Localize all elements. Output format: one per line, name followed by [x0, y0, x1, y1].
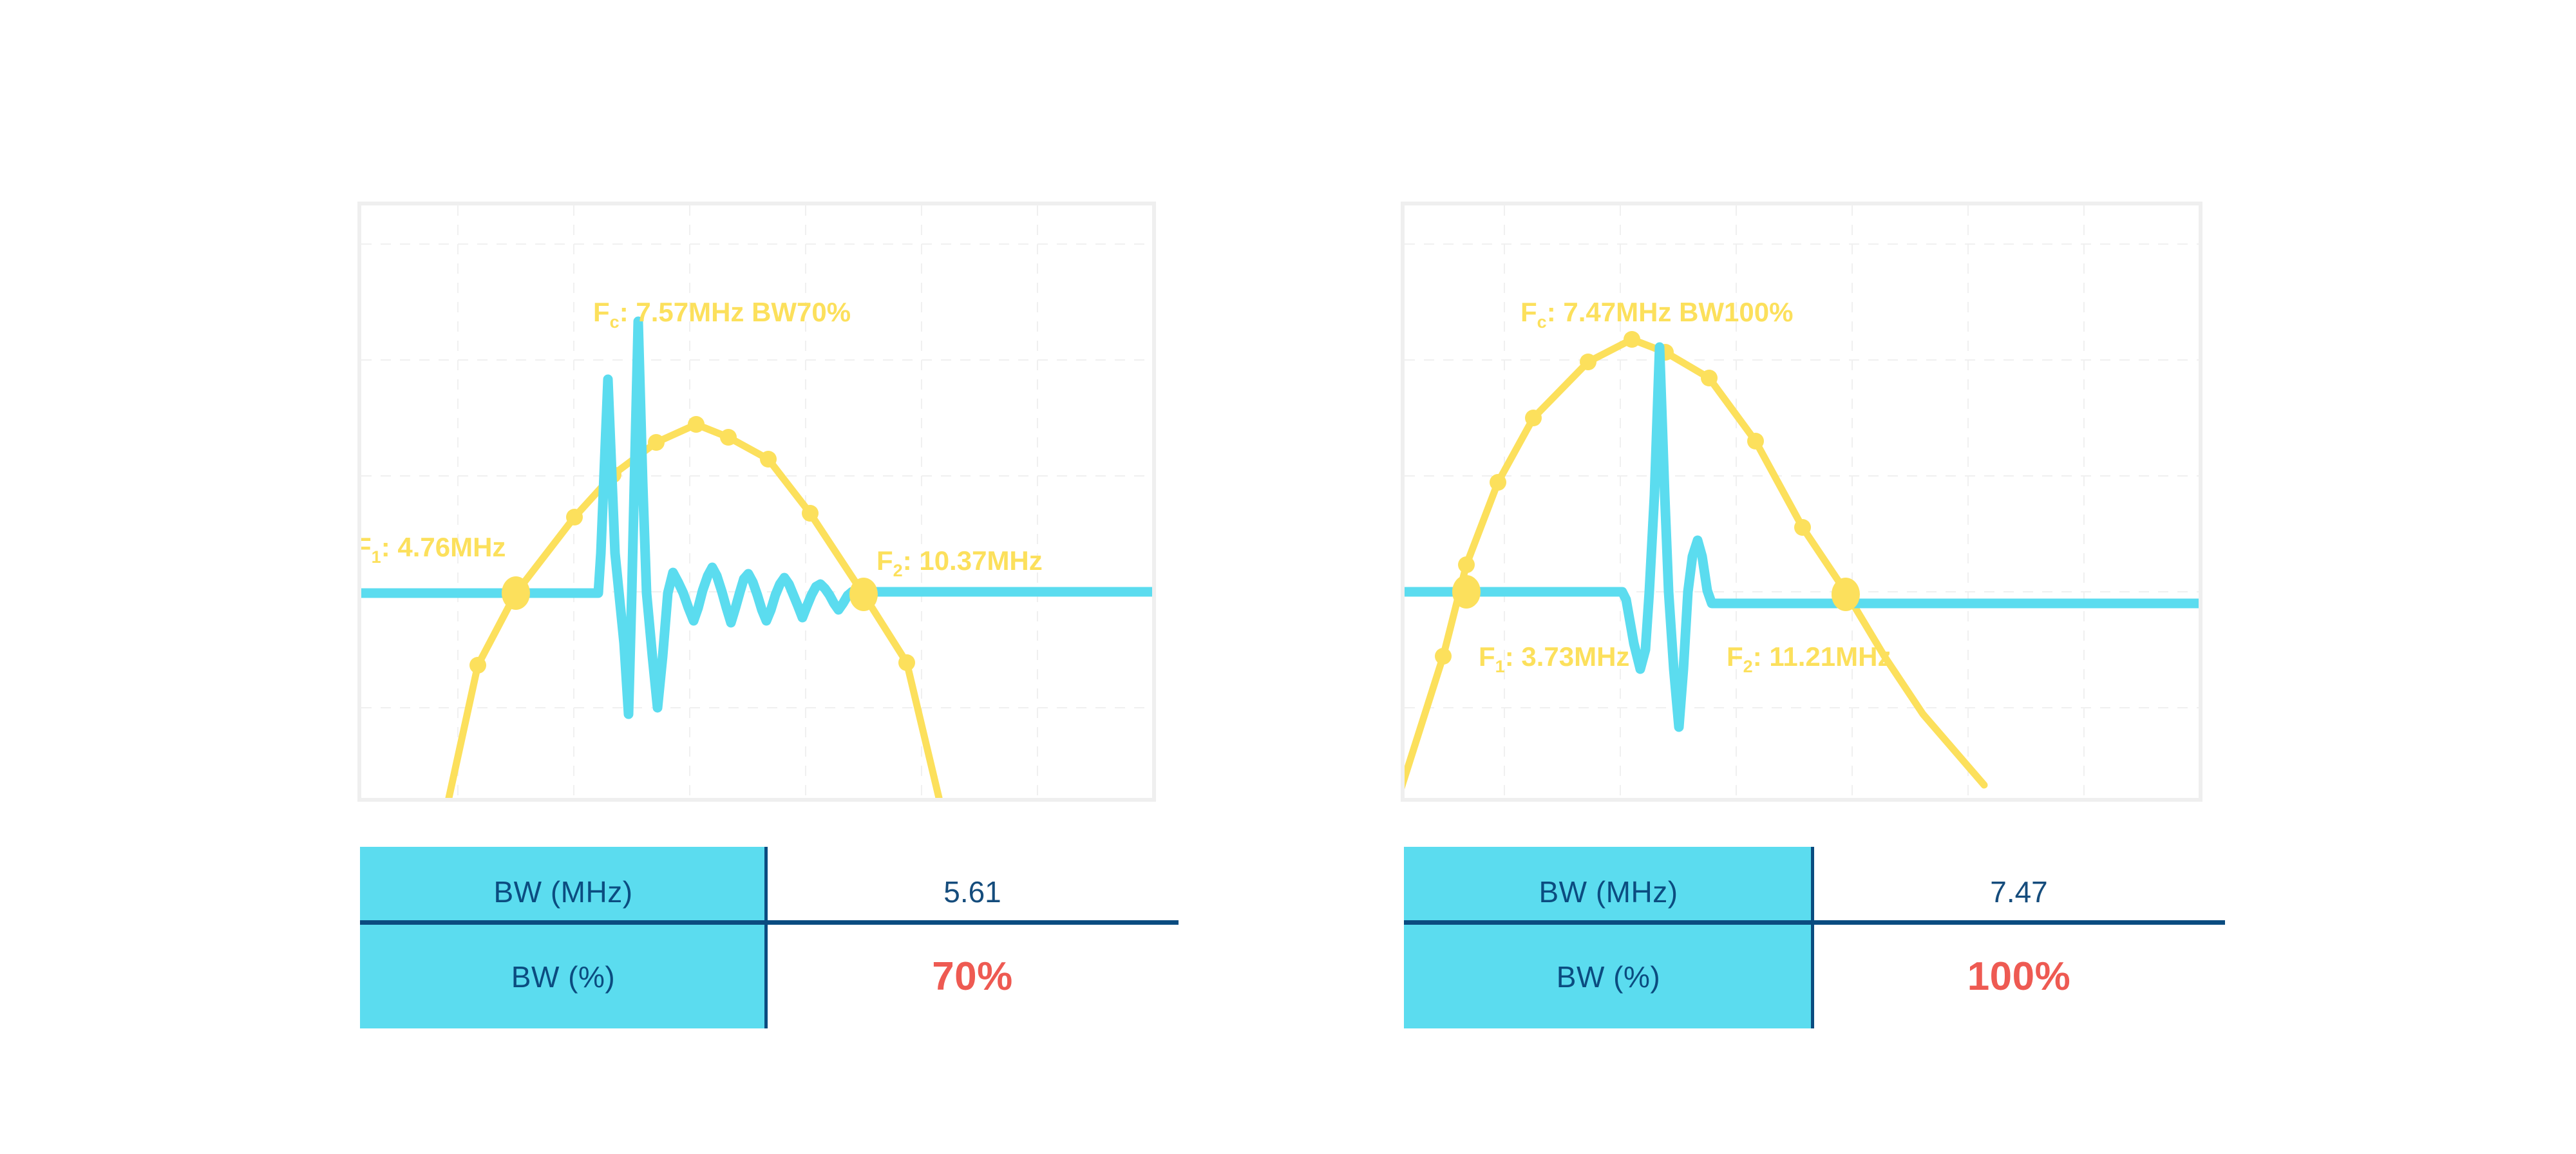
table-header-label: BW (MHz)	[1539, 875, 1678, 909]
figure-root: Fc: 7.57MHz BW70% F1: 4.76MHz F2: 10.37M…	[0, 0, 2576, 1154]
table-header-label: BW (%)	[1557, 960, 1660, 994]
table-column-divider-right	[1811, 847, 1814, 1028]
spectrum-points-left	[469, 416, 915, 674]
chart-right-spectrum: Fc: 7.47MHz BW100% F1: 3.73MHz F2: 11.21…	[1405, 205, 2199, 798]
annotation-fc-left: Fc: 7.57MHz BW70%	[593, 297, 851, 332]
table-right: BW (MHz) 7.47 BW (%) 100%	[1404, 847, 2225, 1028]
table-header-cell: BW (%)	[360, 925, 766, 1028]
table-divider-left	[360, 920, 1179, 925]
f1-prefix-right: F	[1479, 641, 1495, 672]
annotation-f1-left: F1: 4.76MHz	[361, 532, 506, 567]
gridlines-left	[361, 205, 1152, 798]
table-divider-right	[1404, 920, 2225, 925]
f2-text-left: : 10.37MHz	[903, 545, 1043, 576]
table-value-text: 7.47	[1990, 875, 2048, 909]
f2-sub-right: 2	[1743, 657, 1753, 676]
f2-prefix-right: F	[1727, 641, 1743, 672]
f1-sub-left: 1	[372, 547, 381, 567]
f2-text-right: : 11.21MHz	[1753, 641, 1891, 672]
f1-prefix-left: F	[361, 532, 372, 562]
table-value-cell: 100%	[1813, 925, 2225, 1028]
chart-card-right: Fc: 7.47MHz BW100% F1: 3.73MHz F2: 11.21…	[1401, 202, 2202, 802]
table-header-label: BW (MHz)	[493, 875, 632, 909]
table-row: BW (%) 70%	[360, 925, 1179, 1028]
table-header-label: BW (%)	[511, 960, 615, 994]
annotation-f2-right: F2: 11.21MHz	[1727, 641, 1891, 676]
table-value-cell: 70%	[766, 925, 1179, 1028]
table-value-text: 100%	[1967, 954, 2071, 999]
table-value-text: 70%	[932, 954, 1013, 999]
fc-prefix-left: F	[593, 297, 610, 327]
fc-text-right: : 7.47MHz BW100%	[1547, 297, 1794, 327]
fc-sub-left: c	[610, 312, 620, 332]
gridlines-right	[1405, 205, 2199, 798]
chart-left-spectrum: Fc: 7.57MHz BW70% F1: 4.76MHz F2: 10.37M…	[361, 205, 1152, 798]
annotation-f2-left: F2: 10.37MHz	[876, 545, 1043, 580]
f1-text-left: : 4.76MHz	[381, 532, 506, 562]
table-value-text: 5.61	[943, 875, 1001, 909]
table-row: BW (%) 100%	[1404, 925, 2225, 1028]
table-header-cell: BW (%)	[1404, 925, 1813, 1028]
fc-prefix-right: F	[1520, 297, 1537, 327]
f2-prefix-left: F	[876, 545, 893, 576]
table-column-divider-left	[764, 847, 768, 1028]
fc-text-left: : 7.57MHz BW70%	[620, 297, 851, 327]
fc-sub-right: c	[1537, 312, 1547, 332]
annotation-f1-right: F1: 3.73MHz	[1479, 641, 1629, 676]
chart-card-left: Fc: 7.57MHz BW70% F1: 4.76MHz F2: 10.37M…	[357, 202, 1156, 802]
table-left: BW (MHz) 5.61 BW (%) 70%	[360, 847, 1179, 1028]
f2-sub-left: 2	[893, 561, 903, 580]
f1-sub-right: 1	[1495, 657, 1505, 676]
f1-text-right: : 3.73MHz	[1505, 641, 1630, 672]
annotation-fc-right: Fc: 7.47MHz BW100%	[1520, 297, 1793, 332]
